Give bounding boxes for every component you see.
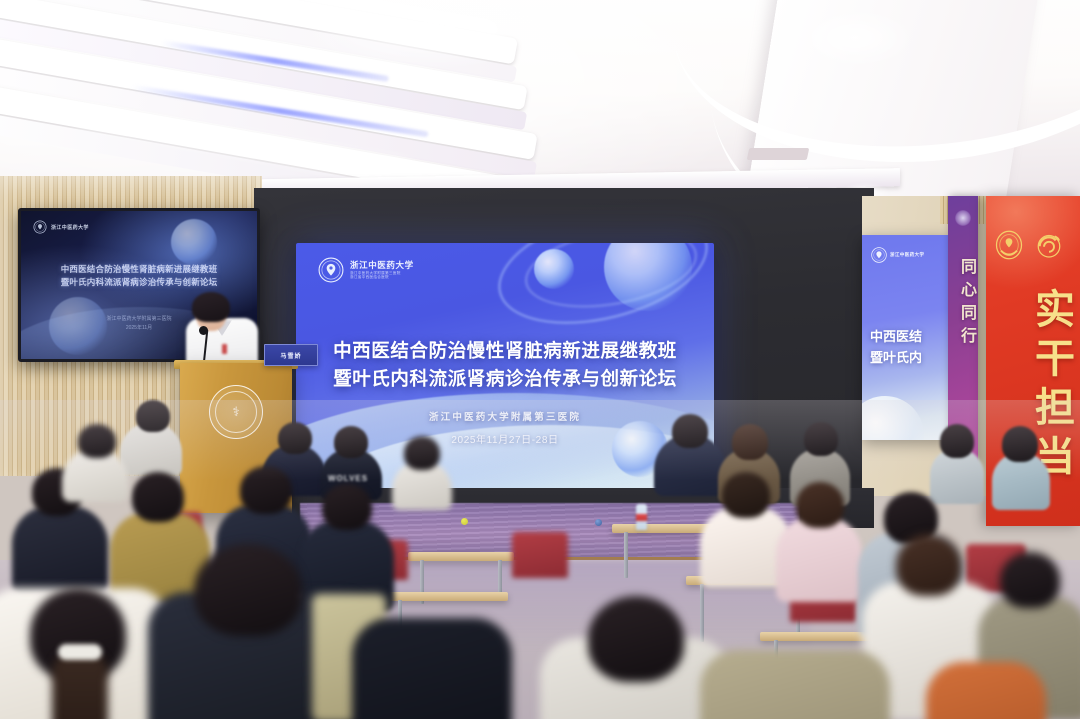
red-banner-emblems <box>994 230 1064 260</box>
hospital-seal-icon <box>871 247 887 263</box>
banner-emblem-icon <box>955 210 971 226</box>
audience-person-head <box>1002 426 1038 462</box>
hair-tie <box>58 644 102 660</box>
water-bottle <box>636 504 647 530</box>
rollup-banner-title: 中西医结 暨叶氏内 <box>870 327 950 369</box>
audience-person <box>700 650 890 719</box>
rollup-banner-logo-name: 浙江中医药大学 <box>890 252 924 258</box>
purple-banner-text: 同心同行 <box>948 258 978 350</box>
audience-area: WOLVES <box>0 400 1080 719</box>
audience-person-head <box>732 424 768 460</box>
audience-person-head <box>896 534 962 596</box>
left-display-logo-name: 浙江中医药大学 <box>51 224 89 231</box>
bottle-label <box>636 514 647 521</box>
audience-person-head <box>132 472 184 522</box>
rollup-banner-title-line2: 暨叶氏内 <box>870 348 950 369</box>
audience-person-head <box>404 436 440 470</box>
conference-hall-scene: 浙江中医药大学 中西医结合防治慢性肾脏病新进展继教班 暨叶氏内科流派肾病诊治传承… <box>0 0 1080 719</box>
audience-person-head <box>278 422 312 454</box>
association-emblem-icon <box>1034 230 1064 260</box>
audience-person-head <box>672 414 708 448</box>
slide-title-line2: 暨叶氏内科流派肾病诊治传承与创新论坛 <box>296 365 714 393</box>
slide-logo-sub: 浙江中医药大学附属第三医院 浙江省中西医结合医院 <box>350 271 414 280</box>
audience-person-head <box>78 424 116 458</box>
audience-person-ponytail <box>52 650 108 719</box>
slide-logo-text: 浙江中医药大学 浙江中医药大学附属第三医院 浙江省中西医结合医院 <box>350 260 414 280</box>
audience-person-head <box>804 422 838 456</box>
desk-leg <box>624 532 628 578</box>
microphone-icon <box>199 326 208 335</box>
name-placard-text: 马雪娇 <box>280 351 301 360</box>
audience-person-head <box>194 544 302 636</box>
ceiling-vent <box>747 148 810 160</box>
audience-person-head <box>1000 552 1060 608</box>
audience-person-head <box>334 426 368 458</box>
slide-logo-name: 浙江中医药大学 <box>350 260 414 271</box>
left-display-title-line2: 暨叶氏内科流派肾病诊治传承与创新论坛 <box>21 276 257 289</box>
slide-title-line1: 中西医结合防治慢性肾脏病新进展继教班 <box>296 337 714 365</box>
left-display-title-line1: 中西医结合防治慢性肾脏病新进展继教班 <box>21 263 257 276</box>
audience-person-head <box>136 400 170 432</box>
slide-title: 中西医结合防治慢性肾脏病新进展继教班 暨叶氏内科流派肾病诊治传承与创新论坛 <box>296 337 714 393</box>
slide-logo: 浙江中医药大学 浙江中医药大学附属第三医院 浙江省中西医结合医院 <box>318 257 414 283</box>
audience-person-head <box>322 484 372 530</box>
national-health-emblem-icon <box>994 230 1024 260</box>
audience-person <box>12 506 108 594</box>
left-display-logo: 浙江中医药大学 <box>33 220 89 234</box>
hospital-seal-icon <box>33 220 47 234</box>
name-placard: 马雪娇 <box>264 344 318 366</box>
audience-person-head <box>588 596 684 682</box>
audience-person-head <box>240 466 292 514</box>
audience-person <box>926 662 1046 719</box>
rollup-banner-logo: 浙江中医药大学 <box>871 247 924 263</box>
decor-orb <box>171 219 217 265</box>
jacket-text: WOLVES <box>328 474 368 483</box>
rollup-banner-title-line1: 中西医结 <box>870 327 950 348</box>
audience-person <box>352 618 512 719</box>
desk-leg <box>700 584 704 642</box>
hospital-seal-icon <box>318 257 344 283</box>
speaker-hair <box>192 292 230 322</box>
audience-chair <box>512 532 568 578</box>
audience-person <box>776 516 862 602</box>
audience-desk <box>388 592 508 601</box>
left-display-title: 中西医结合防治慢性肾脏病新进展继教班 暨叶氏内科流派肾病诊治传承与创新论坛 <box>21 263 257 289</box>
audience-person-head <box>940 424 974 458</box>
speaker-id-badge <box>222 344 227 354</box>
audience-person-head <box>722 472 770 518</box>
audience-person-head <box>796 482 844 528</box>
